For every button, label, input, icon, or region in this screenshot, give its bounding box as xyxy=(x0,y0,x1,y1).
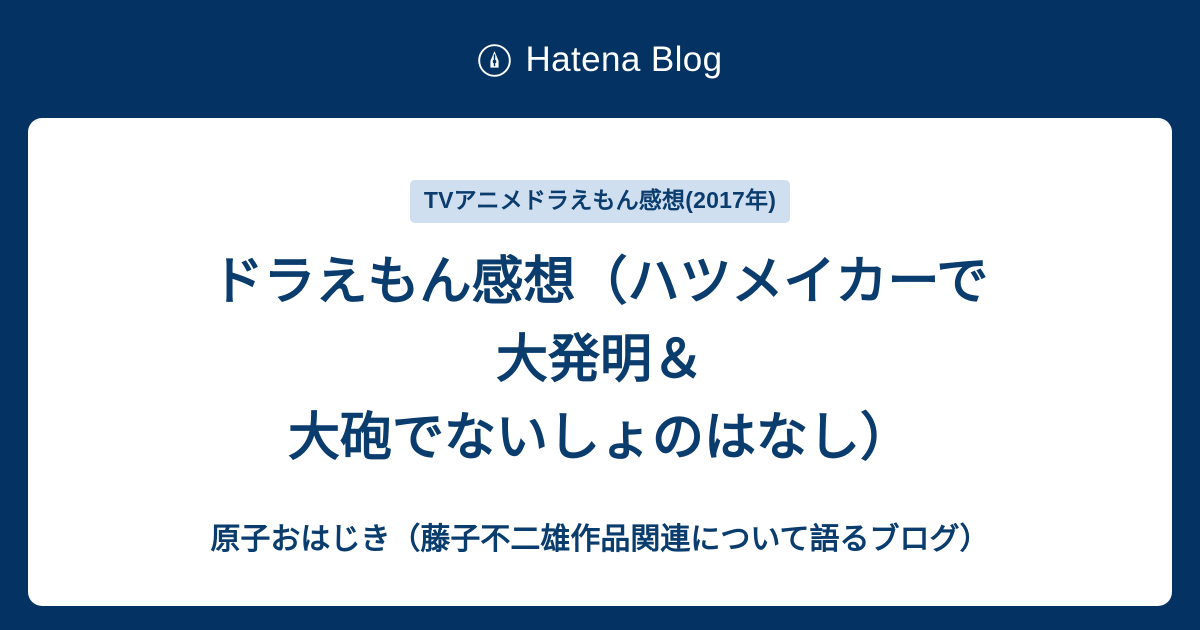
entry-title: ドラえもん感想（ハツメイカーで 大発明＆ 大砲でないしょのはなし） xyxy=(84,243,1116,477)
entry-title-line-2: 大発明＆ xyxy=(84,321,1116,399)
category-badge-row: TVアニメドラえもん感想(2017年) xyxy=(84,180,1116,223)
hatena-blog-wordmark: Hatena Blog xyxy=(525,42,722,77)
entry-title-line-3: 大砲でないしょのはなし） xyxy=(84,399,1116,477)
category-badge[interactable]: TVアニメドラえもん感想(2017年) xyxy=(410,180,790,223)
pen-nib-circle-icon xyxy=(477,43,512,78)
entry-title-line-1: ドラえもん感想（ハツメイカーで xyxy=(84,243,1116,321)
entry-card-inner: TVアニメドラえもん感想(2017年) ドラえもん感想（ハツメイカーで 大発明＆… xyxy=(28,118,1172,606)
hatena-blog-header: Hatena Blog xyxy=(0,0,1200,118)
entry-card: TVアニメドラえもん感想(2017年) ドラえもん感想（ハツメイカーで 大発明＆… xyxy=(28,118,1172,606)
blog-name: 原子おはじき（藤子不二雄作品関連について語るブログ） xyxy=(210,520,989,559)
